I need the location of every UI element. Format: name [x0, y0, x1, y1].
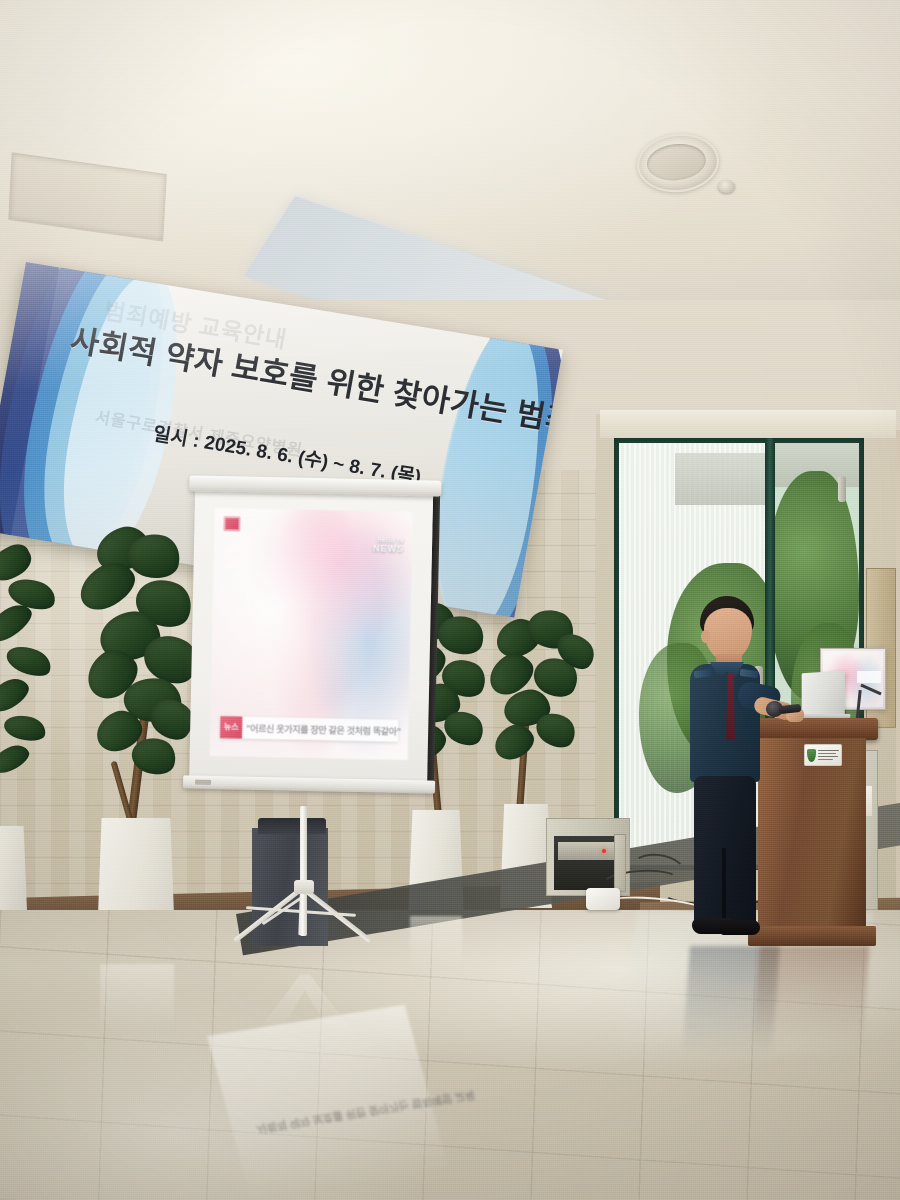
planter-reflection — [100, 964, 174, 1034]
plaque-text-lines — [818, 750, 839, 761]
plinth-top — [258, 818, 326, 834]
power-led-icon — [602, 849, 606, 853]
ear — [701, 630, 710, 643]
power-strip-icon — [586, 888, 620, 910]
photo-scene: 범죄예방 교육안내 서울구로경찰서 제중요양병원 사회적 약자 보호를 위한 찾… — [0, 0, 900, 1200]
tripod-pole — [300, 806, 307, 936]
planter-reflection — [410, 916, 462, 970]
laptop[interactable] — [796, 672, 850, 724]
podium-reflection — [753, 946, 870, 1046]
video-caption-bar: 뉴스 "어르신 옷가지를 장만 같은 것처럼 똑같아" — [220, 716, 398, 742]
banner-reflection: 사회적 약자 보호를 위한 찾아가는 범죄예방 교육 — [207, 1005, 449, 1200]
monitor-caption-bar — [857, 671, 881, 683]
caption-badge: 뉴스 — [220, 716, 242, 738]
head — [704, 608, 752, 660]
presenter-police-officer — [686, 596, 782, 946]
caption-text: "어르신 옷가지를 장만 같은 것처럼 똑같아" — [246, 721, 401, 737]
microphone-body — [779, 704, 802, 714]
window-handle-icon[interactable] — [838, 476, 846, 502]
projected-video: hello tv NEWS 뉴스 "어르신 옷가지를 장만 같은 것처럼 똑같아… — [210, 508, 413, 760]
dark-plinth — [252, 828, 328, 946]
outdoor-building — [675, 453, 767, 505]
av-cabinet-door[interactable] — [614, 834, 626, 892]
shoe — [720, 920, 760, 935]
police-crest-icon — [807, 749, 816, 762]
window-lintel — [600, 410, 896, 438]
projection-screen-surface: hello tv NEWS 뉴스 "어르신 옷가지를 장만 같은 것처럼 똑같아… — [189, 490, 433, 783]
handheld-microphone[interactable] — [766, 700, 800, 718]
leg-separation — [722, 848, 726, 926]
laptop-screen — [802, 671, 845, 720]
ceiling-sensor-icon — [718, 180, 735, 193]
channel-logo-icon — [223, 516, 240, 531]
projection-screen-unit: hello tv NEWS 뉴스 "어르신 옷가지를 장만 같은 것처럼 똑같아… — [183, 475, 442, 810]
podium-plaque — [804, 744, 842, 766]
tripod-hub[interactable] — [294, 880, 314, 894]
broadcaster-watermark: hello tv NEWS — [373, 537, 404, 554]
watermark-line-2: NEWS — [373, 545, 404, 555]
